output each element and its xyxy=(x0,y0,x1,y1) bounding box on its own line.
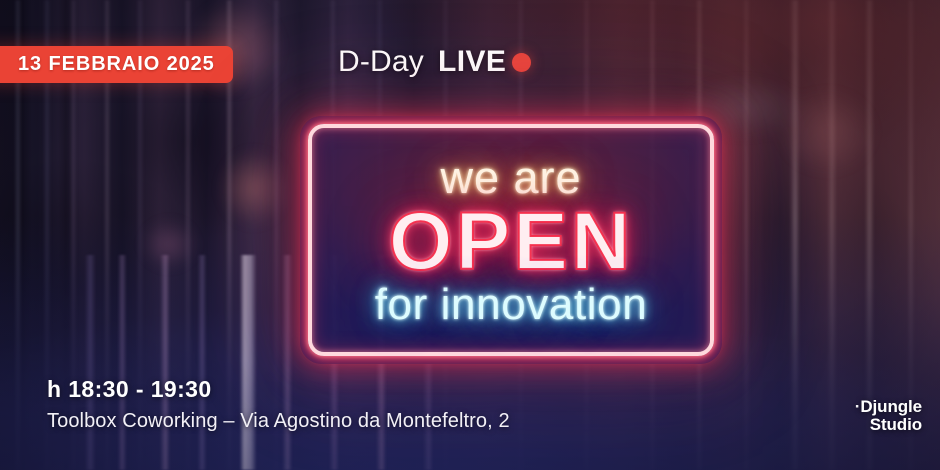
neon-line-for-innovation: for innovation xyxy=(375,280,648,330)
date-badge: 13 FEBBRAIO 2025 xyxy=(0,46,233,83)
djungle-studio-logo: ·Djungle Studio xyxy=(855,398,922,435)
event-time: h 18:30 - 19:30 xyxy=(47,376,510,403)
logo-line-1: ·Djungle xyxy=(855,398,922,416)
logo-mark-icon: · xyxy=(855,397,861,416)
brand-name: D-Day xyxy=(338,45,424,79)
neon-sign: we are OPEN for innovation xyxy=(300,116,722,364)
date-badge-label: 13 FEBBRAIO 2025 xyxy=(18,53,215,76)
event-venue: Toolbox Coworking – Via Agostino da Mont… xyxy=(47,410,510,433)
event-banner: 13 FEBBRAIO 2025 D-Day LIVE we are OPEN … xyxy=(0,0,940,470)
logo-word-djungle: Djungle xyxy=(860,397,922,416)
live-label: LIVE xyxy=(438,45,506,79)
neon-line-open: OPEN xyxy=(389,203,633,282)
brand-lockup: D-Day LIVE xyxy=(338,44,531,80)
event-details: h 18:30 - 19:30 Toolbox Coworking – Via … xyxy=(47,376,510,433)
neon-sign-text: we are OPEN for innovation xyxy=(300,116,722,364)
logo-word-studio: Studio xyxy=(855,416,922,434)
live-dot-icon xyxy=(512,53,531,72)
